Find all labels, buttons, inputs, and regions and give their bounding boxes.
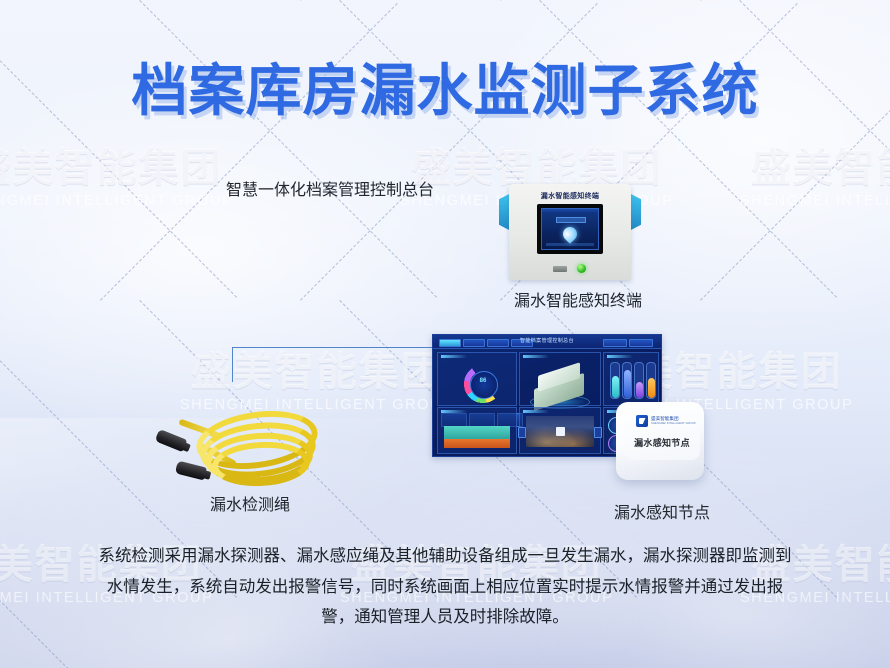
terminal-screen-ui — [541, 208, 599, 250]
terminal-port — [553, 266, 567, 272]
trend-chart — [444, 426, 510, 448]
water-drop-icon — [560, 224, 580, 244]
panel-heading-bar — [523, 355, 549, 358]
energy-bar — [634, 362, 644, 399]
watermark: 盛美智能集团 SHENGMEI INTELLIGENT GROUP — [0, 148, 233, 209]
gauge-center — [470, 371, 498, 399]
console-user-pill — [629, 339, 653, 348]
trend-series-temperature — [444, 426, 510, 439]
trend-series-humidity — [444, 439, 510, 448]
terminal-device-label: 漏水智能感知终端 — [509, 191, 631, 201]
product-caption: 智慧一体化档案管理控制总台 — [216, 183, 444, 199]
console-panel-energy — [603, 352, 659, 406]
terminal-ui-footer — [546, 243, 594, 246]
node-body: 盛美智能集团 SHENGMEI INTELLIGENT GROUP 漏水感知节点 — [616, 402, 704, 480]
product-cable: 漏水检测绳 — [150, 408, 350, 514]
panel-heading-bar — [523, 410, 549, 413]
description-paragraph: 系统检测采用漏水探测器、漏水感应绳及其他辅助设备组成一旦发生漏水，漏水探测器即监… — [95, 541, 795, 633]
watermark-cn: 盛美智能集团 — [0, 148, 233, 188]
product-node: 盛美智能集团 SHENGMEI INTELLIGENT GROUP 漏水感知节点… — [562, 400, 762, 522]
terminal-device-image: 漏水智能感知终端 — [497, 180, 643, 282]
terminal-ui-titlebar — [542, 209, 598, 214]
console-panel-trend — [437, 407, 517, 454]
cable-connector — [155, 429, 188, 452]
gauge-value: 86 — [470, 378, 496, 384]
watermark-cn: 盛美智能集团 — [740, 148, 890, 188]
product-console: 智能档案管理控制总台 86 — [216, 167, 444, 199]
watermark: 盛美智能集团 SHENGMEI INTELLIGENT GROUP — [180, 352, 453, 413]
status-indicator — [577, 264, 586, 273]
console-status-pill — [603, 339, 627, 348]
node-device-label: 漏水感知节点 — [624, 436, 700, 449]
energy-bar — [646, 362, 656, 399]
video-prev-button[interactable] — [518, 427, 526, 438]
terminal-ui-chip — [556, 217, 586, 223]
diagonal-line — [500, 0, 798, 1]
panel-heading-bar — [441, 410, 467, 413]
diagonal-line — [300, 0, 598, 1]
warehouse-3d-model — [526, 359, 592, 405]
energy-bar — [610, 362, 620, 399]
product-terminal: 漏水智能感知终端 漏水智能感知终端 — [497, 180, 659, 310]
page-root: 盛美智能集团 SHENGMEI INTELLIGENT GROUP 盛美智能集团… — [0, 0, 890, 668]
energy-bar — [622, 362, 632, 399]
product-caption: 漏水检测绳 — [150, 498, 350, 514]
panel-heading-bar — [441, 355, 467, 358]
terminal-screen[interactable] — [537, 204, 603, 254]
node-face: 盛美智能集团 SHENGMEI INTELLIGENT GROUP 漏水感知节点 — [624, 406, 700, 460]
diagonal-line — [139, 0, 437, 298]
diagonal-line — [0, 0, 237, 298]
node-device-image: 盛美智能集团 SHENGMEI INTELLIGENT GROUP 漏水感知节点 — [612, 400, 712, 492]
watermark-en: SHENGMEI INTELLIGENT GROUP — [0, 194, 233, 209]
watermark: 盛美智能集团 SHENGMEI INTELLIGENT GROUP — [740, 148, 890, 209]
terminal-body: 漏水智能感知终端 — [509, 184, 631, 280]
product-caption: 漏水感知节点 — [562, 506, 762, 522]
watermark-en: SHENGMEI INTELLIGENT GROUP — [740, 194, 890, 209]
product-caption: 漏水智能感知终端 — [497, 294, 659, 310]
cable-image — [150, 408, 350, 490]
cable-connector — [175, 461, 207, 481]
brand-logo: 盛美智能集团 SHENGMEI INTELLIGENT GROUP — [636, 415, 696, 427]
diagonal-line — [739, 0, 890, 298]
diagonal-line — [700, 0, 890, 1]
watermark-cn: 盛美智能集团 — [180, 352, 453, 392]
panel-heading-bar — [607, 355, 633, 358]
page-title: 档案库房漏水监测子系统 — [0, 46, 890, 127]
logo-text-en: SHENGMEI INTELLIGENT GROUP — [651, 422, 696, 425]
logo-mark-icon — [636, 415, 648, 427]
